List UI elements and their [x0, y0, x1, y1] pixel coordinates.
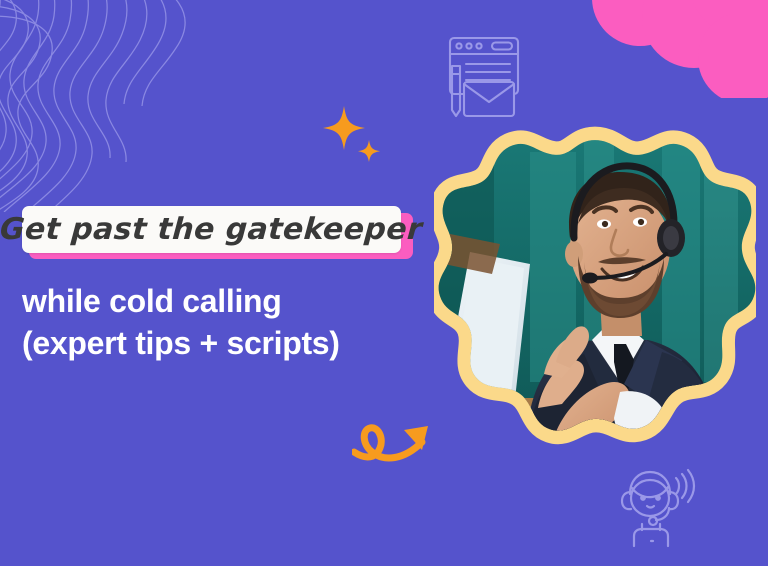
contour-lines-decoration [0, 0, 236, 212]
headline-copy-block: Get past the gatekeeper while cold calli… [22, 206, 422, 364]
email-browser-window-icon [430, 28, 530, 120]
subheadline: while cold calling (expert tips + script… [22, 280, 422, 364]
pink-cloud-blob-decoration [584, 0, 768, 98]
subheadline-line-2: (expert tips + scripts) [22, 322, 422, 364]
headline-highlight-box: Get past the gatekeeper [22, 206, 401, 253]
sparkle-stars-icon [318, 100, 390, 172]
support-agent-headset-icon [608, 464, 700, 550]
hero-photo-frame [434, 112, 756, 452]
headline-highlight-wrapper: Get past the gatekeeper [22, 206, 407, 258]
subheadline-line-1: while cold calling [22, 280, 422, 322]
headline-text: Get past the gatekeeper [0, 212, 424, 247]
promo-banner: Get past the gatekeeper while cold calli… [0, 0, 768, 566]
